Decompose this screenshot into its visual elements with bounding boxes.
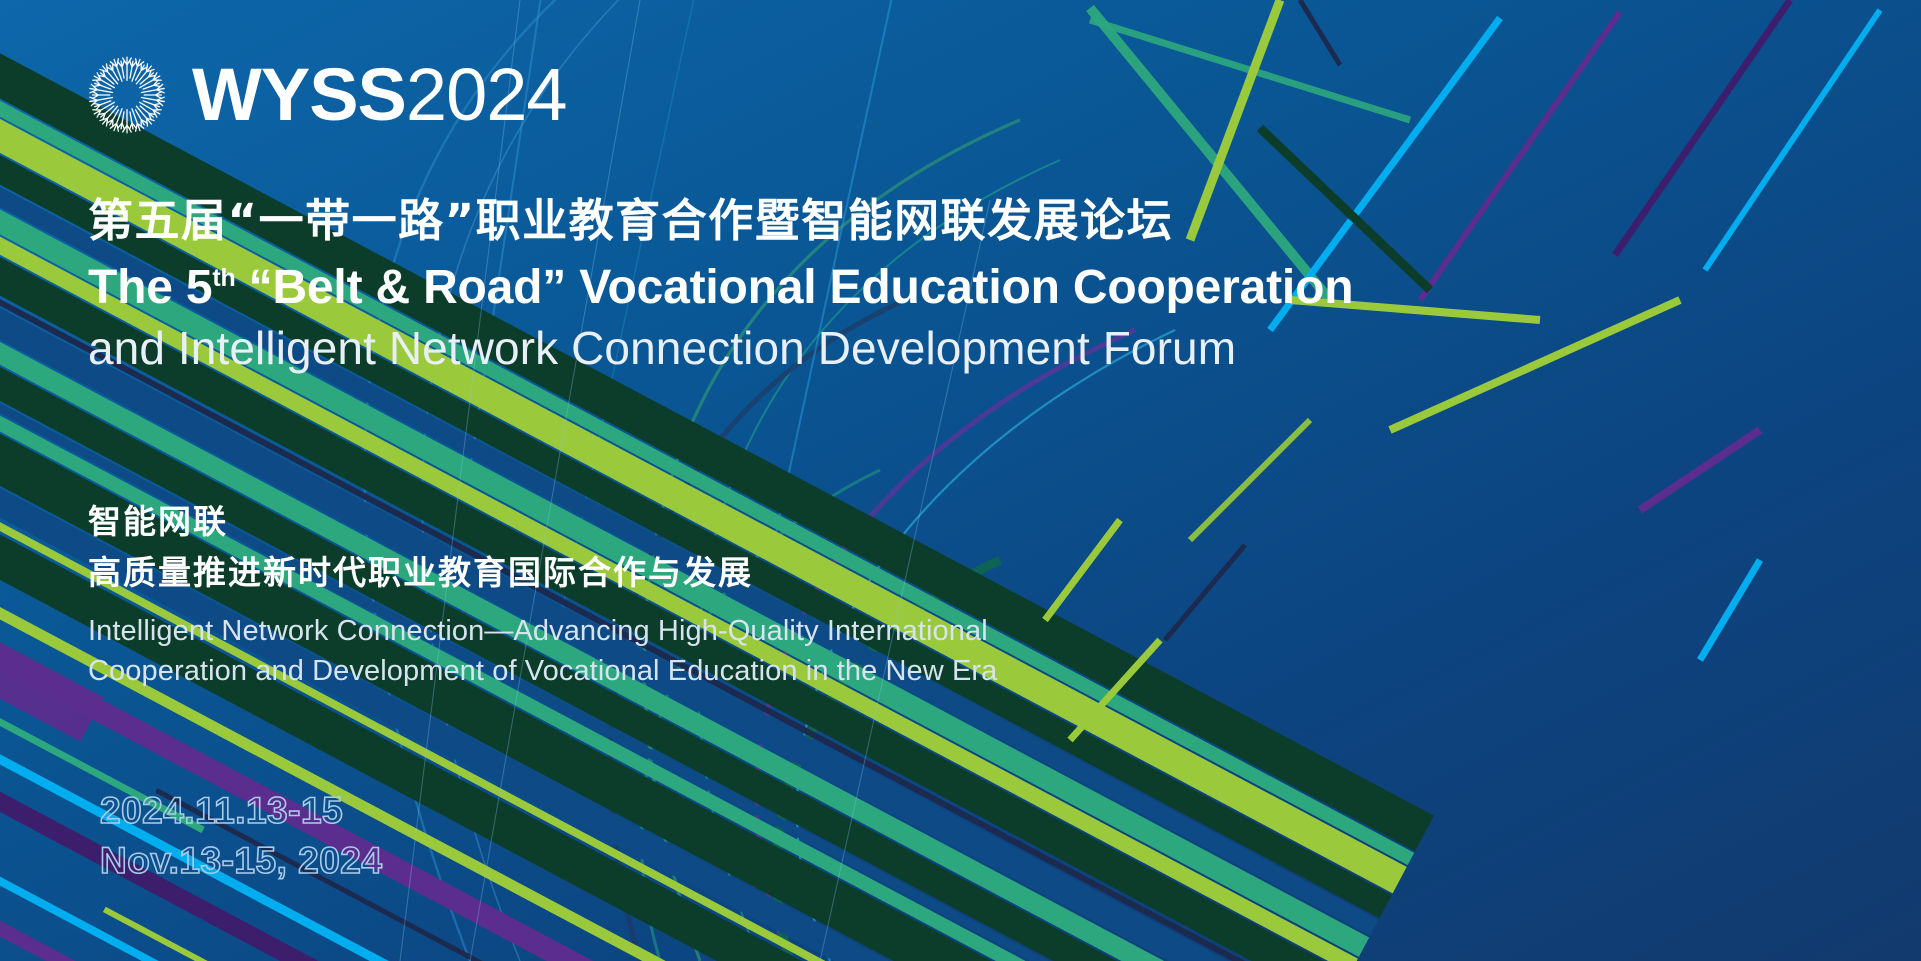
ordinal-suffix: th <box>212 264 235 292</box>
chinese-title: 第五届“一带一路”职业教育合作暨智能网联发展论坛 <box>88 196 1808 246</box>
theme-english-line2: Cooperation and Development of Vocationa… <box>88 651 1488 691</box>
english-title-line2: and Intelligent Network Connection Devel… <box>88 321 1808 376</box>
english-title-prefix: The 5 <box>88 261 212 314</box>
wyss-sunburst-icon <box>84 52 170 138</box>
poster-content: WYSS 2024 第五届“一带一路”职业教育合作暨智能网联发展论坛 The 5… <box>0 0 1921 961</box>
theme-english-line1: Intelligent Network Connection—Advancing… <box>88 611 1488 651</box>
theme-chinese-line1: 智能网联 <box>88 500 1488 545</box>
theme-english: Intelligent Network Connection—Advancing… <box>88 611 1488 691</box>
english-title-line1: The 5th “Belt & Road” Vocational Educati… <box>88 260 1808 317</box>
date-block: 2024.11.13-15 Nov.13-15, 2024 <box>100 786 382 885</box>
wyss-wordmark: WYSS 2024 <box>192 58 567 132</box>
wordmark-light: 2024 <box>406 58 567 132</box>
event-poster: WYSS 2024 第五届“一带一路”职业教育合作暨智能网联发展论坛 The 5… <box>0 0 1921 961</box>
theme-block: 智能网联 高质量推进新时代职业教育国际合作与发展 Intelligent Net… <box>88 500 1488 691</box>
brand-logo-lockup: WYSS 2024 <box>84 52 567 138</box>
date-english: Nov.13-15, 2024 <box>100 836 382 886</box>
theme-chinese-line2: 高质量推进新时代职业教育国际合作与发展 <box>88 551 1488 596</box>
date-numeric: 2024.11.13-15 <box>100 786 382 836</box>
wordmark-bold: WYSS <box>192 58 406 132</box>
english-title-rest: “Belt & Road” Vocational Education Coope… <box>236 261 1354 314</box>
title-block: 第五届“一带一路”职业教育合作暨智能网联发展论坛 The 5th “Belt &… <box>88 196 1808 376</box>
